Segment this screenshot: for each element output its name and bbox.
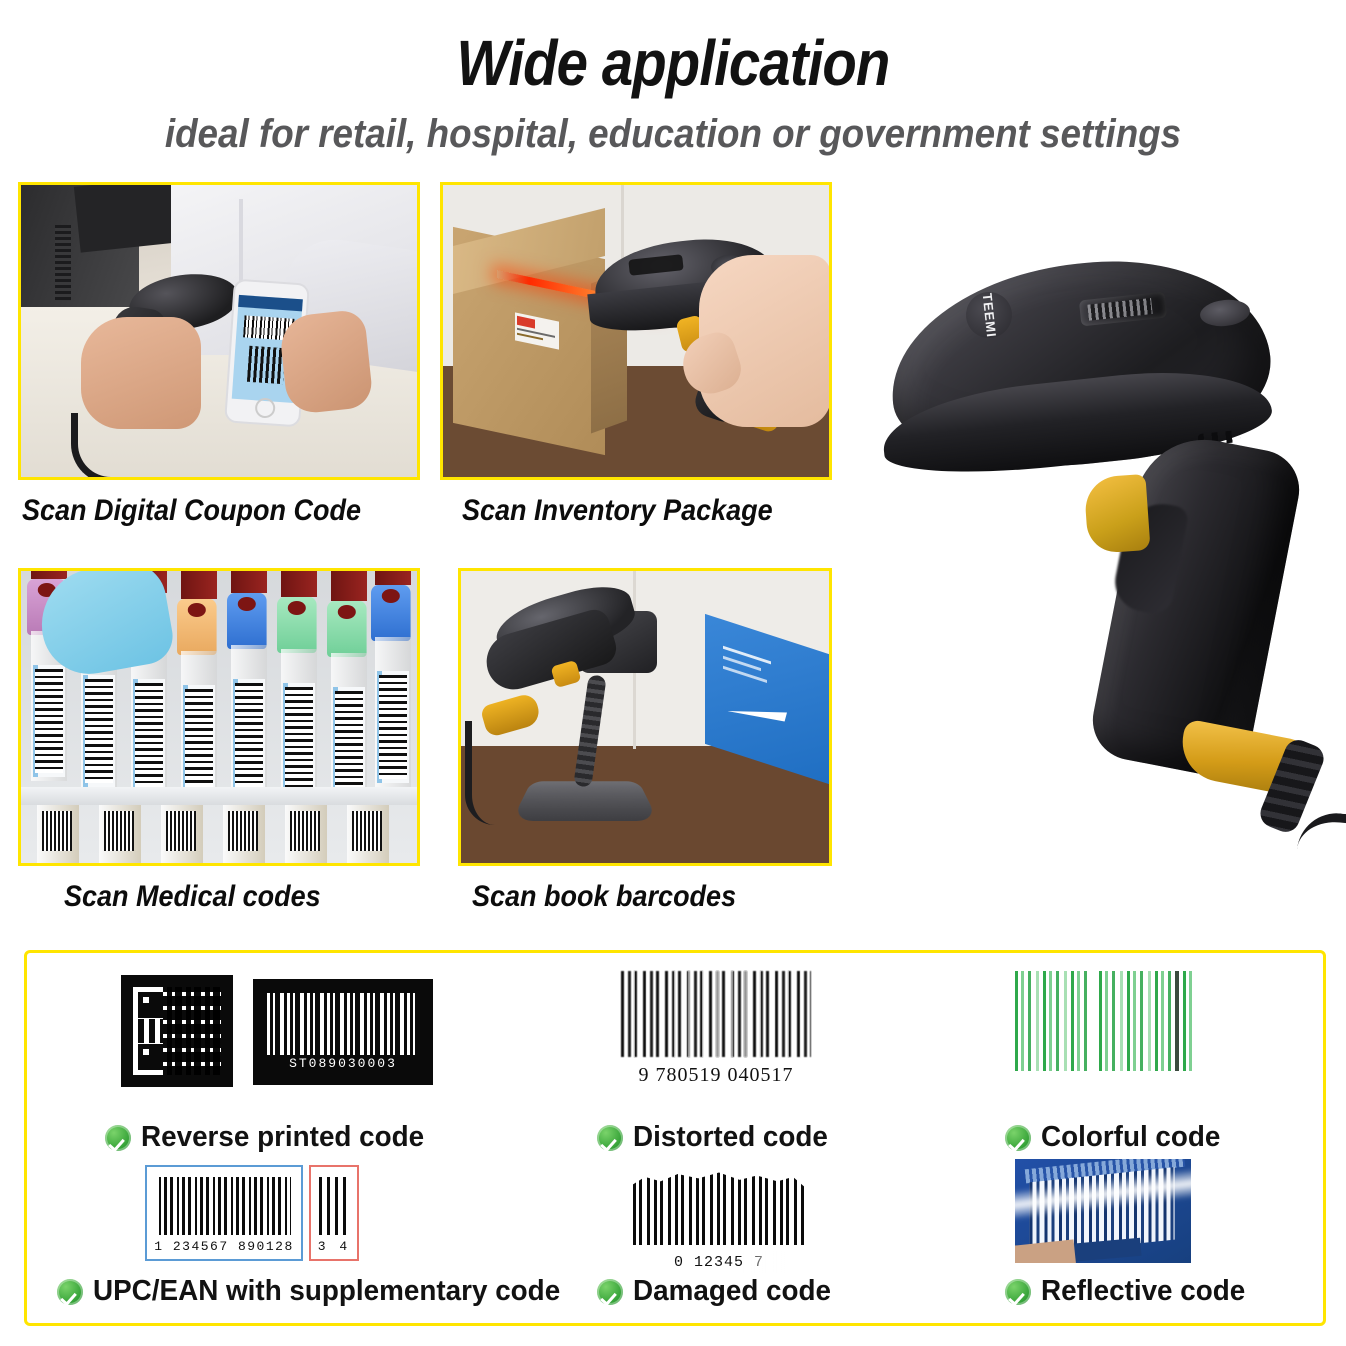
check-icon: [1005, 1125, 1031, 1151]
test-tube-lower: [161, 805, 203, 863]
hand-holding-phone: [278, 309, 374, 415]
capability-label: Distorted code: [633, 1121, 828, 1154]
tube-label: [233, 679, 265, 791]
brand-label: TEEMI: [979, 292, 999, 338]
upc-main-box: 1 234567 890128: [145, 1165, 303, 1261]
shipping-label-logo: [517, 316, 535, 329]
tube-label-barcode: [85, 679, 113, 783]
capability-reverse-printed-code: Reverse printed code: [105, 1121, 436, 1154]
tube-label: [133, 679, 165, 791]
tube-cap: [177, 599, 217, 655]
test-tube-lower: [347, 805, 389, 863]
tube-label-barcode: [185, 689, 213, 793]
scanner-cable: [1295, 809, 1346, 873]
qr-timing-modules: [133, 1019, 163, 1043]
hand-edge: [1015, 1239, 1076, 1263]
barcode-center-gap: [1089, 971, 1095, 1071]
tube-cap: [277, 597, 317, 653]
photo-scan-inventory-package: [440, 182, 832, 480]
colorful-barcode-sample: [1015, 971, 1193, 1071]
caption-scan-book-barcodes: Scan book barcodes: [472, 880, 736, 914]
tube-cap: [327, 601, 367, 657]
scanner-cable: [465, 721, 502, 825]
caption-scan-medical-codes: Scan Medical codes: [64, 880, 321, 914]
capability-samples: ST089030003 Reverse printed code 9 78051…: [27, 953, 1323, 1323]
scan-window-reflection: [1087, 298, 1152, 321]
upc-ean-supplementary-sample: 1 234567 890128 3 4: [145, 1165, 359, 1261]
book-text-line: [723, 646, 771, 665]
tube-label: [333, 687, 365, 799]
distorted-barcode-sample: 9 780519 040517: [621, 971, 811, 1091]
reflective-barcode-sample: [1015, 1159, 1191, 1263]
barcode-number: ST089030003: [253, 1056, 433, 1071]
tube-label: [283, 683, 315, 795]
test-tube-lower: [99, 805, 141, 863]
caption-scan-digital-coupon-code: Scan Digital Coupon Code: [22, 494, 361, 528]
tube-label-barcode: [235, 683, 263, 787]
capability-label: UPC/EAN with supplementary code: [93, 1275, 560, 1308]
rack-shelf: [21, 787, 417, 805]
phone-home-button: [254, 397, 275, 418]
check-icon: [105, 1125, 131, 1151]
barcode-bars: [633, 1171, 805, 1245]
tube-cap: [371, 585, 411, 641]
tube-blood: [375, 568, 411, 585]
reverse-barcode-sample: ST089030003: [253, 979, 433, 1085]
lower-tube-row: [21, 805, 417, 863]
scanner-cable: [71, 413, 136, 480]
datamatrix-label: [290, 811, 320, 851]
page-title: Wide application: [81, 26, 1265, 100]
tube-label: [183, 685, 215, 797]
capabilities-panel: ST089030003 Reverse printed code 9 78051…: [24, 950, 1326, 1326]
reverse-qr-sample: [121, 975, 233, 1087]
supplement-number: 3 4: [311, 1239, 357, 1254]
test-tube-lower: [223, 805, 265, 863]
capability-reflective-code: Reflective code: [1005, 1275, 1254, 1308]
test-tube-lower: [37, 805, 79, 863]
capability-label: Reflective code: [1041, 1275, 1245, 1308]
tube-blood: [231, 568, 267, 593]
product-feature-image: Wide application ideal for retail, hospi…: [0, 0, 1346, 1346]
qr-modules: [133, 987, 221, 1075]
tube-label-barcode: [335, 691, 363, 795]
check-icon: [1005, 1279, 1031, 1305]
phone-qr-code: [247, 346, 285, 384]
tube-label-barcode: [379, 675, 407, 779]
caption-scan-inventory-package: Scan Inventory Package: [462, 494, 773, 528]
capability-label: Damaged code: [633, 1275, 831, 1308]
scanner-trigger: [1083, 474, 1150, 554]
photo-scan-digital-coupon-code: [18, 182, 420, 480]
check-icon: [597, 1125, 623, 1151]
capability-distorted-code: Distorted code: [597, 1121, 836, 1154]
supplement-bars: [319, 1177, 351, 1235]
tube-blood: [281, 568, 317, 597]
tube-label: [377, 671, 409, 783]
capability-label: Colorful code: [1041, 1121, 1220, 1154]
barcode-bars: [159, 1177, 291, 1235]
capability-colorful-code: Colorful code: [1005, 1121, 1228, 1154]
product-scanner-hero: TEEMI: [880, 240, 1346, 860]
tube-blood: [181, 568, 217, 599]
barcode-faded-area: [741, 1251, 799, 1273]
capability-label: Reverse printed code: [141, 1121, 424, 1154]
check-icon: [57, 1279, 83, 1305]
barcode-bars: [267, 993, 419, 1055]
barcode-number: 1 234567 890128: [147, 1239, 301, 1254]
datamatrix-label: [228, 811, 258, 851]
tube-cap: [227, 593, 267, 649]
qr-data-modules: [163, 987, 221, 1075]
barcode-distortion-overlay: [621, 971, 811, 1057]
tube-label-barcode: [135, 683, 163, 787]
monitor-vents: [55, 225, 71, 301]
tube-label: [83, 675, 115, 787]
photo-scan-book-barcodes: [458, 568, 832, 866]
capability-upc-ean-supplementary-code: UPC/EAN with supplementary code: [57, 1275, 580, 1308]
datamatrix-label: [352, 811, 382, 851]
tube-label-barcode: [285, 687, 313, 791]
book-graphic: [727, 693, 787, 730]
photo-scan-medical-codes: [18, 568, 420, 866]
tube-label: [33, 665, 65, 777]
datamatrix-label: [104, 811, 134, 851]
barcode-number: 9 780519 040517: [621, 1064, 811, 1087]
upc-supplement-box: 3 4: [309, 1165, 359, 1261]
test-tube-lower: [285, 805, 327, 863]
scanner-stand-base: [512, 781, 659, 821]
damaged-barcode-sample: 0 12345 7: [633, 1171, 805, 1273]
datamatrix-label: [42, 811, 72, 851]
phone-screen-header: [238, 295, 303, 311]
barcode-dark-bar: [1175, 971, 1179, 1071]
tube-label-barcode: [35, 669, 63, 773]
page-subtitle: ideal for retail, hospital, education or…: [54, 112, 1292, 157]
tube-blood: [331, 568, 367, 601]
datamatrix-label: [166, 811, 196, 851]
check-icon: [597, 1279, 623, 1305]
capability-damaged-code: Damaged code: [597, 1275, 839, 1308]
tube-blood: [31, 568, 67, 579]
